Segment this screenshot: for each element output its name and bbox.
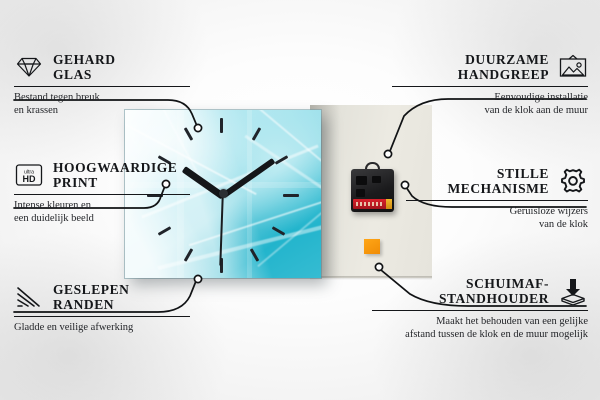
hands-center-cap <box>219 189 228 198</box>
callout-desc-line1: Intense kleuren en <box>14 200 190 213</box>
callout-header: STILLE MECHANISME <box>406 166 588 196</box>
callout-divider <box>14 86 190 87</box>
callout-divider <box>372 310 588 311</box>
callout-title: SCHUIMAF- STANDHOUDER <box>439 276 549 306</box>
callout-desc-line2: van de klok aan de muur <box>392 105 588 118</box>
callout-title: HOOGWAARDIGE PRINT <box>53 160 177 190</box>
callout-divider <box>14 194 190 195</box>
callout-geslepen-randen: GESLEPEN RANDEN Gladde en veilige afwerk… <box>14 282 190 335</box>
callout-duurzame-handgreep: DUURZAME HANDGREEP Eenvoudige installati… <box>392 52 588 117</box>
movement-slot <box>372 176 381 183</box>
callout-header: SCHUIMAF- STANDHOUDER <box>372 276 588 306</box>
callout-divider <box>406 200 588 201</box>
ultra-hd-icon-bottom-label: HD <box>23 174 36 184</box>
callout-desc-line1: Geruisloze wijzers <box>406 206 588 219</box>
callout-divider <box>392 86 588 87</box>
callout-title: GESLEPEN RANDEN <box>53 282 129 312</box>
picture-frame-icon <box>558 54 588 80</box>
callout-desc-line1: Bestand tegen breuk <box>14 92 190 105</box>
movement-slot <box>356 189 365 197</box>
callout-stille-mechanisme: STILLE MECHANISME Geruisloze wijzers van… <box>406 166 588 231</box>
callout-desc-line2: een duidelijk beeld <box>14 213 190 226</box>
movement-slot <box>356 176 367 185</box>
ultra-hd-icon: ultra HD <box>14 162 44 188</box>
callout-hoogwaardige-print: ultra HD HOOGWAARDIGE PRINT Intense kleu… <box>14 160 190 225</box>
diamond-icon <box>14 55 44 79</box>
hour-tick <box>283 194 299 197</box>
callout-divider <box>14 316 190 317</box>
callout-header: ultra HD HOOGWAARDIGE PRINT <box>14 160 190 190</box>
callout-title: DUURZAME HANDGREEP <box>458 52 549 82</box>
foam-standoff-icon <box>558 277 588 305</box>
infographic-canvas: GEHARD GLAS Bestand tegen breuk en krass… <box>0 0 600 400</box>
callout-desc-line1: Eenvoudige installatie <box>392 92 588 105</box>
callout-desc-line2: van de klok <box>406 219 588 232</box>
battery-positive-terminal <box>386 199 392 209</box>
beveled-edge-icon <box>14 285 44 309</box>
callout-title: STILLE MECHANISME <box>447 166 549 196</box>
callout-desc-line2: afstand tussen de klok en de muur mogeli… <box>372 329 588 342</box>
hour-tick <box>220 118 223 133</box>
battery-label <box>356 202 382 206</box>
foam-standoff-pad <box>364 239 380 254</box>
callout-desc-line1: Maakt het behouden van een gelijke <box>372 316 588 329</box>
callout-header: GESLEPEN RANDEN <box>14 282 190 312</box>
callout-desc-line1: Gladde en veilige afwerking <box>14 322 190 335</box>
gear-icon <box>558 167 588 195</box>
callout-header: GEHARD GLAS <box>14 52 190 82</box>
callout-schuimaf-standhouder: SCHUIMAF- STANDHOUDER Maakt het behouden… <box>372 276 588 341</box>
callout-gehard-glas: GEHARD GLAS Bestand tegen breuk en krass… <box>14 52 190 117</box>
callout-title: GEHARD GLAS <box>53 52 116 82</box>
callout-desc-line2: en krassen <box>14 105 190 118</box>
callout-header: DUURZAME HANDGREEP <box>392 52 588 82</box>
